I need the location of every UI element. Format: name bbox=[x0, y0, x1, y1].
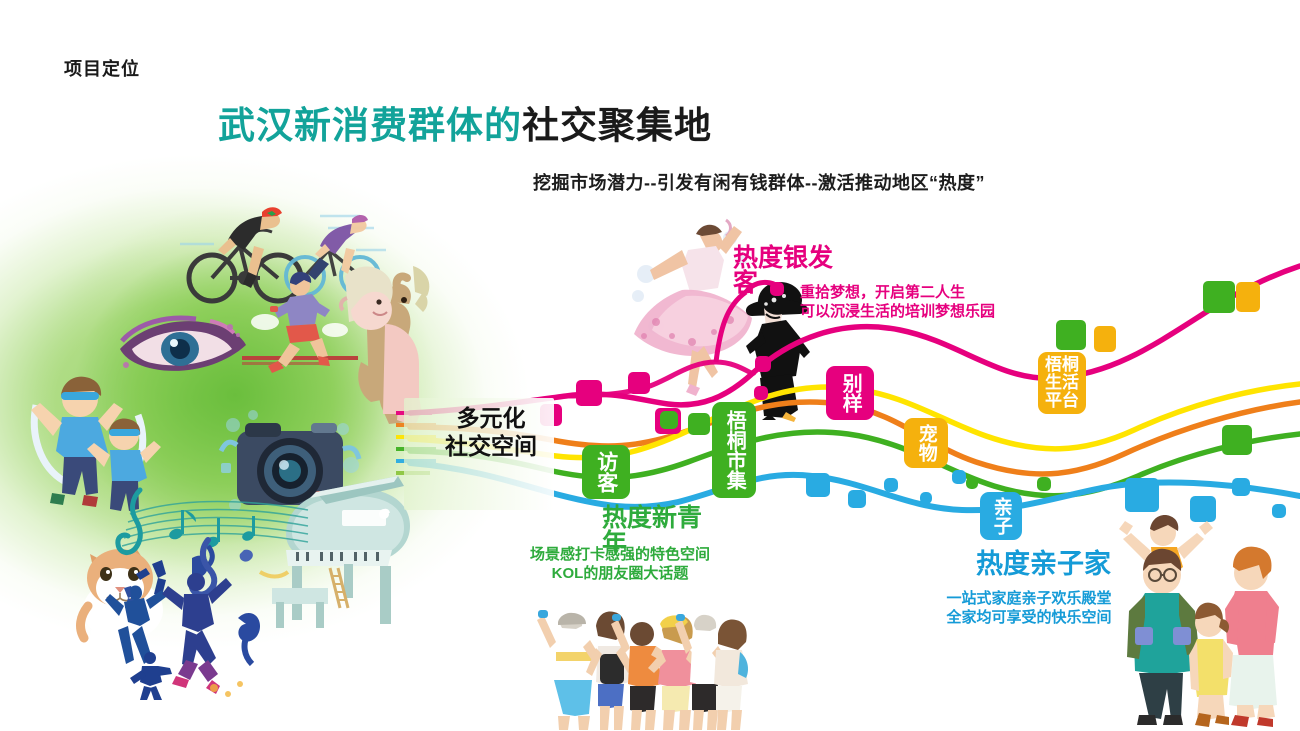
node-chip bbox=[754, 386, 768, 400]
node-chip bbox=[806, 473, 830, 497]
node-chip bbox=[1125, 478, 1159, 512]
node-chip bbox=[1203, 281, 1235, 313]
multi-space-line2: 社交空间 bbox=[432, 432, 550, 460]
node-label-life: 梧桐生活平台 bbox=[1038, 356, 1086, 410]
node-chip bbox=[884, 478, 898, 492]
youth-group-photo bbox=[530, 600, 740, 731]
node-chip bbox=[1232, 478, 1250, 496]
node-label-pet: 宠物 bbox=[916, 424, 935, 462]
slide-canvas: 项目定位 武汉新消费群体的社交聚集地 挖掘市场潜力--引发有闲有钱群体--激活推… bbox=[0, 0, 1300, 731]
node-chip bbox=[1037, 477, 1051, 491]
category-title-family: 热度亲子家 bbox=[976, 551, 1111, 578]
node-box-market[interactable]: 梧桐市集 bbox=[712, 402, 756, 498]
node-chip bbox=[660, 411, 678, 429]
multi-space-line1: 多元化 bbox=[432, 404, 550, 432]
category-desc-family: 一站式家庭亲子欢乐殿堂 全家均可享受的快乐空间 bbox=[914, 589, 1144, 627]
node-box-visitor[interactable]: 访客 bbox=[582, 445, 630, 499]
node-chip bbox=[952, 470, 966, 484]
node-chip bbox=[688, 413, 710, 435]
node-box-kids[interactable]: 亲子 bbox=[980, 492, 1022, 540]
node-chip bbox=[755, 356, 771, 372]
node-chip bbox=[576, 380, 602, 406]
node-box-pet[interactable]: 宠物 bbox=[904, 418, 948, 468]
node-chip bbox=[1056, 320, 1086, 350]
node-label-visitor: 访客 bbox=[595, 451, 616, 493]
node-chip bbox=[628, 372, 650, 394]
node-chip bbox=[1094, 326, 1116, 352]
node-chip bbox=[848, 490, 866, 508]
node-chip bbox=[920, 492, 932, 504]
family-of-four-photo bbox=[1115, 515, 1295, 731]
node-chip bbox=[1236, 282, 1260, 312]
node-label-kids: 亲子 bbox=[991, 497, 1010, 535]
node-label-market: 梧桐市集 bbox=[724, 410, 744, 490]
node-chip bbox=[966, 477, 978, 489]
category-desc-silver: 重拾梦想，开启第二人生 可以沉浸生活的培训梦想乐园 bbox=[800, 283, 995, 321]
node-box-life[interactable]: 梧桐生活平台 bbox=[1038, 352, 1086, 414]
category-desc-youth: 场景感打卡感强的特色空间 KOL的朋友圈大话题 bbox=[504, 545, 736, 583]
node-box-different[interactable]: 别样 bbox=[826, 366, 874, 420]
multi-space-label: 多元化 社交空间 bbox=[432, 404, 550, 460]
node-label-different: 别样 bbox=[840, 373, 860, 413]
node-chip bbox=[1222, 425, 1252, 455]
